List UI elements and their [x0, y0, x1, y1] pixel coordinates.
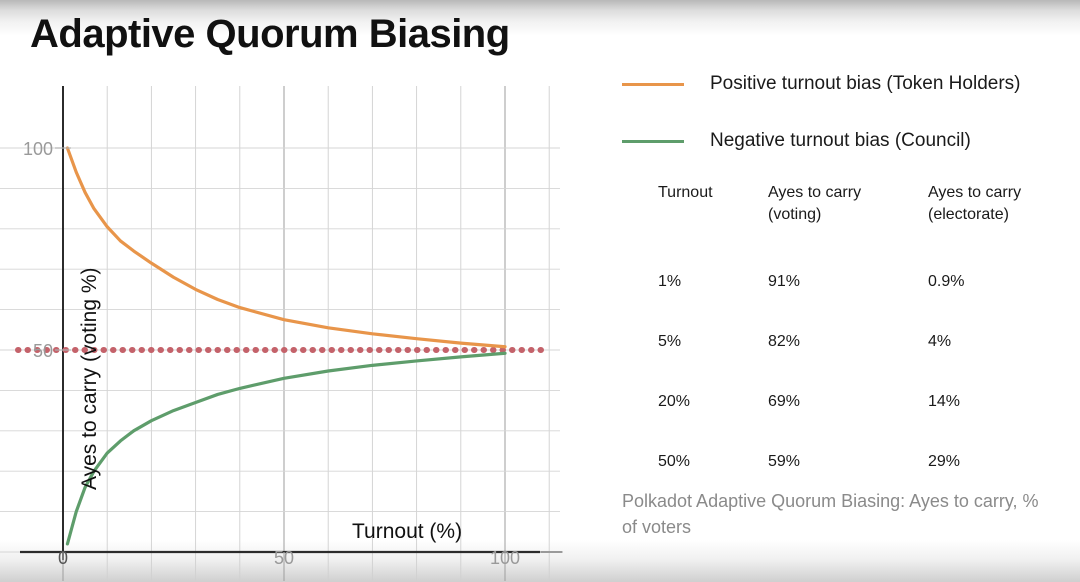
data-table: Turnout Ayes to carry (voting) Ayes to c… — [658, 182, 1078, 471]
table-row: 20%69%14% — [658, 393, 1078, 411]
table-header-ayes-voting: Ayes to carry (voting) — [768, 182, 928, 225]
series-line-positive — [67, 148, 505, 347]
x-axis-tick-label: 100 — [490, 548, 520, 568]
table-header-ayes-electorate: Ayes to carry (electorate) — [928, 182, 1078, 225]
cell-turnout: 50% — [658, 453, 768, 471]
chart-caption: Polkadot Adaptive Quorum Biasing: Ayes t… — [622, 488, 1052, 540]
cell-voting: 69% — [768, 393, 928, 411]
chart-container: 05010050100 Ayes to carry (voting %) Tur… — [0, 60, 600, 582]
table-row-gap — [658, 411, 1078, 453]
header-line1: Ayes to carry — [928, 182, 1078, 204]
y-axis-tick-label: 50 — [33, 341, 53, 361]
cell-electorate: 0.9% — [928, 273, 1078, 291]
header-line1: Turnout — [658, 182, 768, 204]
chart-svg: 05010050100 Ayes to carry (voting %) Tur… — [0, 60, 600, 582]
table-body: 1%91%0.9%5%82%4%20%69%14%50%59%29% — [658, 273, 1078, 471]
legend-item-negative: Negative turnout bias (Council) — [622, 130, 971, 152]
slide-root: Adaptive Quorum Biasing 05010050100 Ayes… — [0, 0, 1080, 582]
table-row: 1%91%0.9% — [658, 273, 1078, 291]
axis-ticks: 05010050100 — [23, 139, 563, 568]
table-header-spacer — [658, 225, 1078, 273]
y-axis-tick-label: 100 — [23, 139, 53, 159]
cell-voting: 59% — [768, 453, 928, 471]
legend-swatch-positive — [622, 83, 684, 86]
series-line-negative — [67, 353, 505, 544]
table-header-row: Turnout Ayes to carry (voting) Ayes to c… — [658, 182, 1078, 225]
table-header-turnout: Turnout — [658, 182, 768, 225]
x-axis-label: Turnout (%) — [352, 520, 462, 543]
legend-swatch-negative — [622, 140, 684, 143]
x-axis-tick-label: 0 — [58, 548, 68, 568]
header-line1: Ayes to carry — [768, 182, 928, 204]
header-line2: (voting) — [768, 204, 928, 226]
legend-label-negative: Negative turnout bias (Council) — [710, 130, 971, 152]
x-axis-tick-label: 50 — [274, 548, 294, 568]
cell-electorate: 4% — [928, 333, 1078, 351]
cell-electorate: 29% — [928, 453, 1078, 471]
page-title: Adaptive Quorum Biasing — [30, 12, 510, 56]
info-panel: Positive turnout bias (Token Holders) Ne… — [600, 60, 1080, 582]
header-line2: (electorate) — [928, 204, 1078, 226]
y-axis-label: Ayes to carry (voting %) — [78, 267, 101, 490]
legend-label-positive: Positive turnout bias (Token Holders) — [710, 73, 1020, 95]
cell-voting: 91% — [768, 273, 928, 291]
cell-turnout: 20% — [658, 393, 768, 411]
legend-item-positive: Positive turnout bias (Token Holders) — [622, 73, 1020, 95]
cell-turnout: 1% — [658, 273, 768, 291]
table-row-gap — [658, 351, 1078, 393]
series-lines — [67, 148, 505, 544]
table-row: 5%82%4% — [658, 333, 1078, 351]
cell-turnout: 5% — [658, 333, 768, 351]
table-row-gap — [658, 291, 1078, 333]
cell-voting: 82% — [768, 333, 928, 351]
table-row: 50%59%29% — [658, 453, 1078, 471]
cell-electorate: 14% — [928, 393, 1078, 411]
